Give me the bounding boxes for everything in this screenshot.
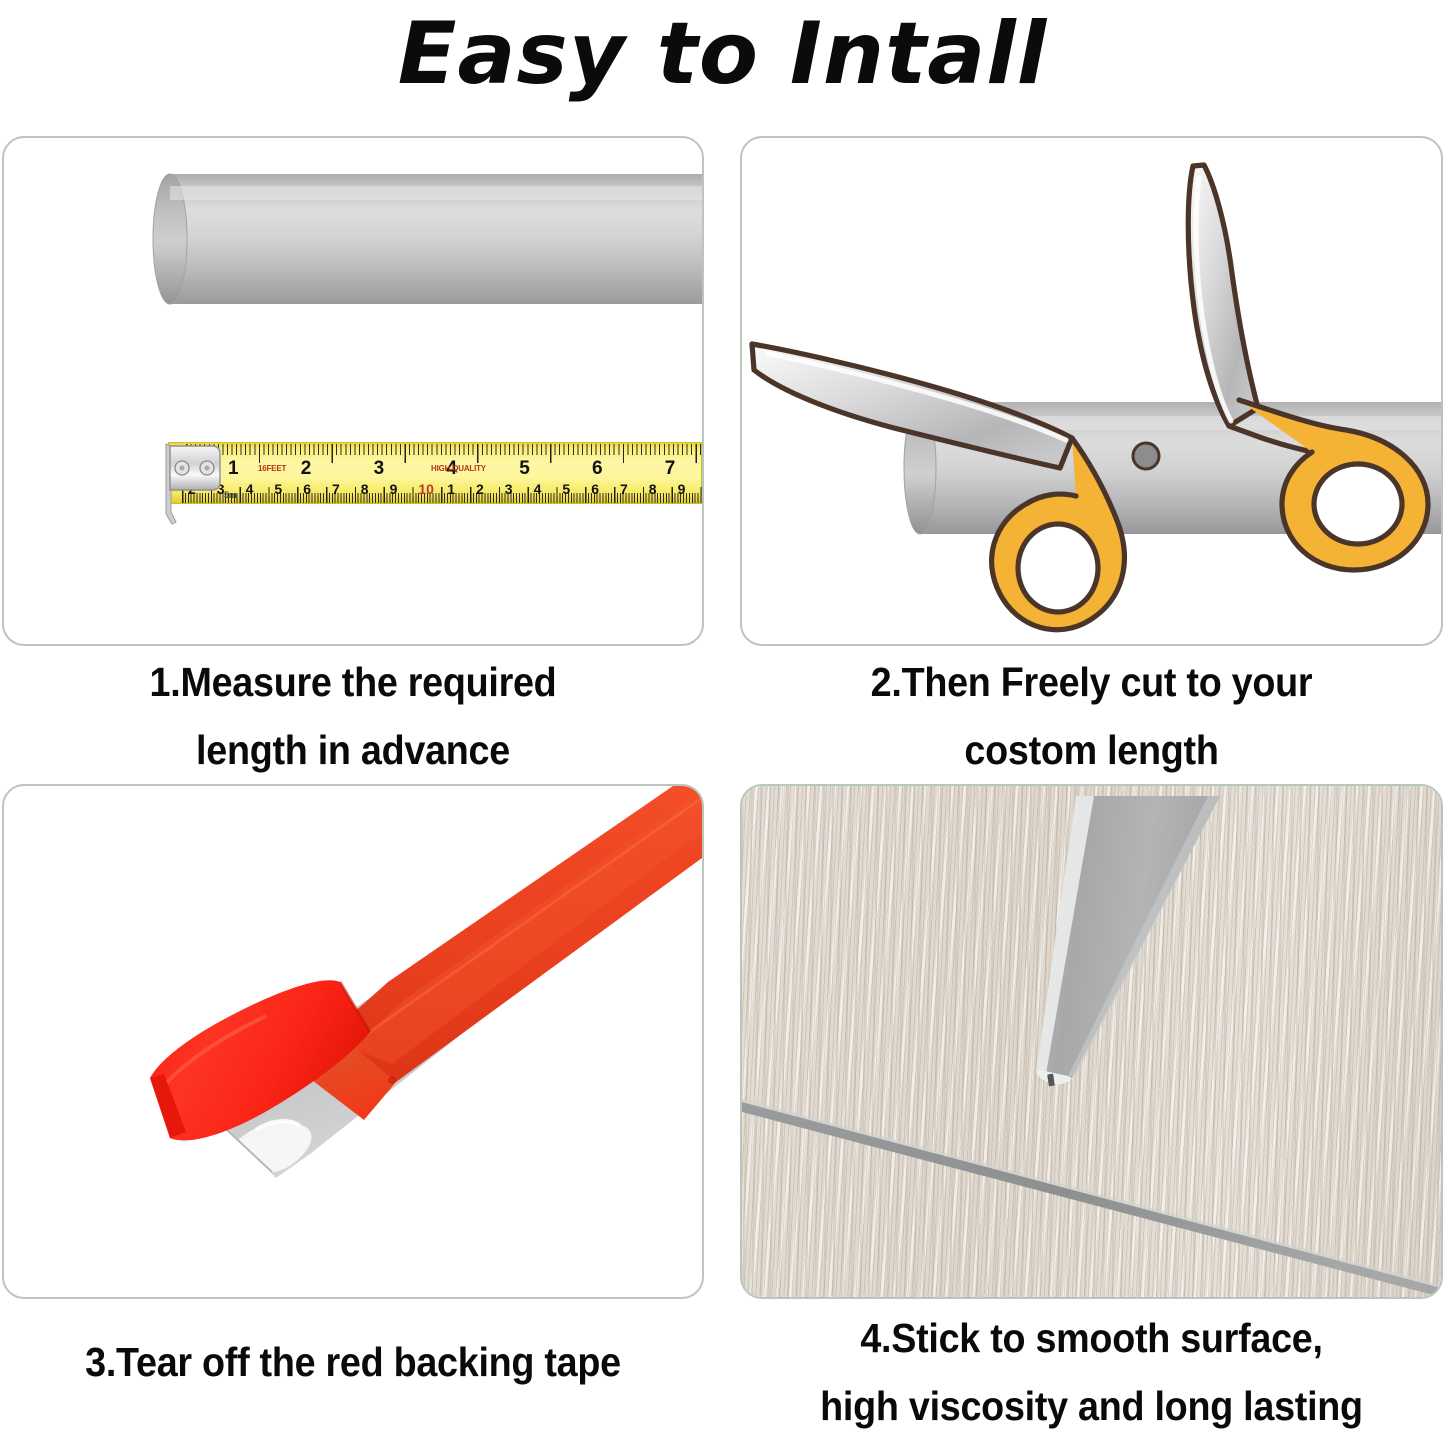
tape-brand-text: 16FEET <box>258 464 286 473</box>
step-2-caption-line2: costom length <box>768 716 1415 784</box>
step-2-image-panel <box>740 136 1443 646</box>
floor-edge-band <box>742 1099 1441 1297</box>
scissors-pivot <box>1133 443 1159 469</box>
cable-cover-strip <box>1036 796 1220 1086</box>
tape-fold-dot <box>388 1076 396 1084</box>
measure-illustration <box>4 138 702 644</box>
step-3-image-panel <box>2 784 704 1299</box>
tape-metric-mark: 7 <box>620 482 628 496</box>
step-1-caption-line2: length in advance <box>30 716 676 784</box>
tape-metric-mark: 6 <box>303 482 311 496</box>
tape-inch-mark: 3 <box>374 459 385 478</box>
tape-metric-mark: 7 <box>332 482 340 496</box>
tape-metric-mark: 1 <box>447 482 455 496</box>
tape-metric-mark: 10 <box>418 482 434 496</box>
tape-metric-mark: 4 <box>246 482 254 496</box>
step-2-caption: 2.Then Freely cut to your costom length <box>768 648 1415 784</box>
tape-metric-mark: 5 <box>274 482 282 496</box>
tape-ticks-inch-major <box>186 444 702 463</box>
page-title: Easy to Intall <box>0 2 1445 106</box>
tape-inch-mark: 2 <box>301 459 312 478</box>
step-4-image-panel <box>740 784 1443 1299</box>
infographic-page: Easy to Intall <box>0 0 1445 1431</box>
step-4-caption-line2: high viscosity and long lasting <box>768 1372 1415 1431</box>
scissors-illustration <box>742 138 1441 644</box>
step-3-caption-line1: 3.Tear off the red backing tape <box>30 1328 676 1396</box>
tape-metric-mark: 9 <box>678 482 686 496</box>
scissors-ring-right <box>1314 464 1402 544</box>
tape-inch-mark: 7 <box>665 459 676 478</box>
tape-metric-mark: 3 <box>505 482 513 496</box>
tape-metric-mark: 9 <box>390 482 398 496</box>
tape-inch-mark: 5 <box>519 459 530 478</box>
tape-metric-mark: 5 <box>562 482 570 496</box>
step-2-caption-line1: 2.Then Freely cut to your <box>768 648 1415 716</box>
tape-metric-mark: 8 <box>649 482 657 496</box>
tape-quality-text: HIGH QUALITY <box>431 464 486 473</box>
tape-measure-hook <box>162 434 232 526</box>
tape-metric-mark: 2 <box>476 482 484 496</box>
step-4-caption: 4.Stick to smooth surface, high viscosit… <box>768 1304 1415 1431</box>
tape-metric-mark: 6 <box>591 482 599 496</box>
backing-tape-illustration <box>4 786 702 1297</box>
floor-strip-illustration <box>742 786 1441 1297</box>
tape-measure-blade: 1234567 2345678910123456789 16FEET HIGH … <box>168 442 702 504</box>
gray-tube <box>153 174 702 304</box>
step-1-caption-line1: 1.Measure the required <box>30 648 676 716</box>
step-4-caption-line1: 4.Stick to smooth surface, <box>768 1304 1415 1372</box>
scissors <box>752 165 1428 630</box>
tape-metric-mark: 8 <box>361 482 369 496</box>
scissors-ring-bottom <box>1018 524 1098 612</box>
tape-metric-mark: 4 <box>534 482 542 496</box>
red-backing-strip <box>334 786 702 1082</box>
tape-inch-mark: 6 <box>592 459 603 478</box>
step-1-caption: 1.Measure the required length in advance <box>30 648 676 784</box>
step-3-caption: 3.Tear off the red backing tape <box>30 1328 676 1396</box>
step-1-image-panel: 1234567 2345678910123456789 16FEET HIGH … <box>2 136 704 646</box>
